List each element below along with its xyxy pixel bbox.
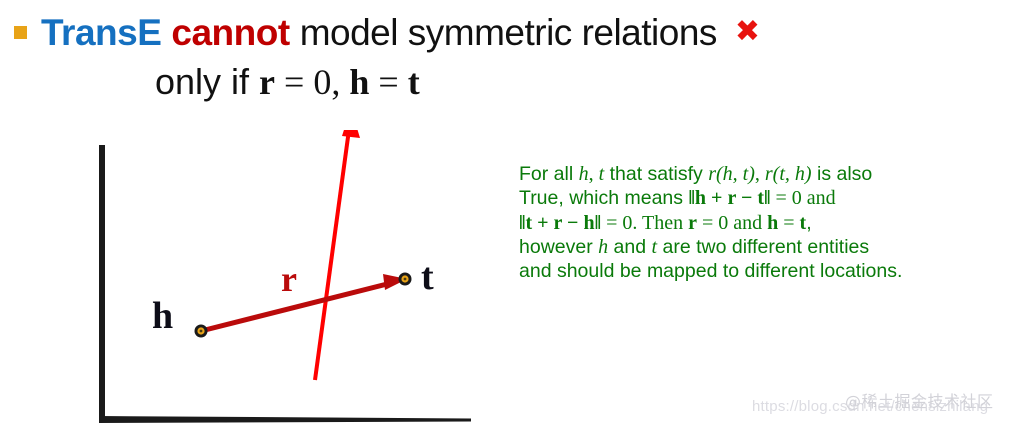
- entity-point-t-marker: [399, 273, 412, 286]
- exp3-d: ,: [806, 212, 811, 234]
- title-line2-symbol-t: t: [408, 62, 420, 102]
- exp3-a: = 0. Then: [601, 212, 688, 234]
- exp1-rth: r(t, h): [765, 163, 812, 185]
- exp3-h: h: [767, 212, 778, 234]
- explanation-paragraph: For all h, t that satisfy r(h, t), r(t, …: [519, 162, 1014, 283]
- exp1-a: For all: [519, 163, 579, 185]
- exp3-c: =: [778, 212, 799, 234]
- exp2-norm-h-plus-r-minus-t: ‖h + r − t‖: [688, 187, 770, 209]
- title-phrase-model-symmetric-relations: model symmetric relations: [300, 14, 717, 51]
- exp1-b: that satisfy: [604, 163, 708, 185]
- title-line2-prefix: only if: [155, 61, 259, 102]
- title-line2-eq-zero: = 0,: [275, 62, 340, 102]
- watermark-brand: @稀土掘金技术社区: [845, 388, 994, 412]
- explanation-line-2: True, which means ‖h + r − t‖ = 0 and: [519, 186, 1014, 210]
- explanation-line-5: and should be mapped to different locati…: [519, 259, 1014, 283]
- exp2-b: = 0 and: [771, 187, 836, 209]
- exp4-h: h: [598, 236, 608, 258]
- diagram-label-h: h: [152, 297, 173, 335]
- exp2-a: True, which means: [519, 187, 688, 209]
- title-line-2: only if r = 0, h = t: [155, 62, 420, 103]
- title-word-cannot: cannot: [171, 14, 289, 51]
- exp1-c: ,: [755, 163, 765, 185]
- title-line2-symbol-r: r: [259, 62, 275, 102]
- bullet-square-icon: [14, 26, 27, 39]
- diagram-label-t: t: [421, 258, 434, 296]
- exp3-r: r: [688, 212, 697, 234]
- relation-vector-arrow: [201, 274, 407, 331]
- exp1-comma: ,: [589, 163, 599, 185]
- exp4-b: and: [608, 236, 651, 258]
- exp1-d: is also: [812, 163, 873, 185]
- explanation-line-3: ‖t + r − h‖ = 0. Then r = 0 and h = t,: [519, 211, 1014, 235]
- exp4-c: are two different entities: [657, 236, 869, 258]
- exp3-norm-t-plus-r-minus-h: ‖t + r − h‖: [519, 212, 601, 234]
- explanation-line-4: however h and t are two different entiti…: [519, 235, 1014, 259]
- pointer-arrow-to-formula: [315, 130, 360, 380]
- x-axis: [99, 416, 471, 423]
- diagram-label-r: r: [281, 261, 297, 297]
- exp3-b: = 0 and: [697, 212, 767, 234]
- exp1-rht: r(h, t): [708, 163, 755, 185]
- cross-mark-icon: ✖: [735, 17, 760, 47]
- title-line2-gap: [340, 62, 349, 102]
- title-line-1: TransE cannot model symmetric relations …: [14, 8, 1004, 56]
- title-line2-equals: =: [369, 62, 407, 102]
- exp1-h: h: [579, 163, 589, 185]
- explanation-line-1: For all h, t that satisfy r(h, t), r(t, …: [519, 162, 1014, 186]
- title-word-transe: TransE: [41, 14, 161, 51]
- exp4-a: however: [519, 236, 598, 258]
- title-line2-symbol-h: h: [349, 62, 369, 102]
- entity-point-h-marker: [195, 325, 208, 338]
- slide-canvas: TransE cannot model symmetric relations …: [0, 0, 1023, 433]
